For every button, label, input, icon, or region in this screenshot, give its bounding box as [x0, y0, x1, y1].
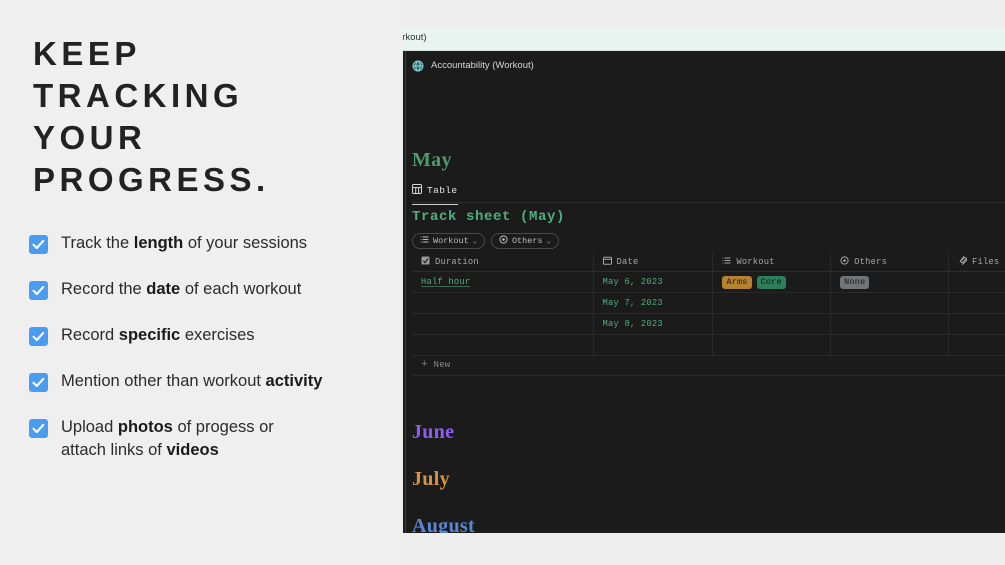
column-header-files[interactable]: Files [949, 253, 1005, 271]
chevron-down-icon: ⌄ [547, 237, 551, 246]
tag-none: None [840, 276, 869, 289]
cell-date[interactable]: May 7, 2023 [594, 293, 714, 313]
add-new-row-label: New [434, 360, 451, 370]
tab-table-label: Table [427, 185, 458, 196]
paperclip-icon [958, 256, 967, 268]
column-header-label: Others [854, 257, 887, 267]
breadcrumb-label[interactable]: Accountability (Workout) [431, 60, 534, 71]
table-icon [412, 181, 422, 199]
cell-files[interactable] [949, 314, 1005, 334]
table-row[interactable]: Half hourMay 6, 2023ArmsCoreNone [412, 272, 1005, 293]
page-title: KEEP TRACKING YOUR PROGRESS. [33, 33, 373, 201]
month-heading-june[interactable]: June [412, 421, 454, 444]
table-row[interactable]: May 8, 2023 [412, 314, 1005, 335]
cell-others[interactable] [831, 335, 949, 355]
cell-date-value: May 8, 2023 [603, 319, 663, 329]
checkbox-checked-icon[interactable] [29, 235, 48, 254]
checkbox-checked-icon[interactable] [29, 327, 48, 346]
database-title[interactable]: Track sheet (May) [412, 209, 565, 225]
app-body: Accountability (Workout) May Table Track… [405, 51, 1005, 533]
cell-workout[interactable] [713, 314, 831, 334]
cell-date[interactable]: May 8, 2023 [594, 314, 714, 334]
checklist-item: Track the length of your sessions [29, 232, 399, 255]
cell-others[interactable] [831, 293, 949, 313]
cell-workout[interactable]: ArmsCore [713, 272, 831, 292]
table-row[interactable]: May 7, 2023 [412, 293, 1005, 314]
checklist-item: Record specific exercises [29, 324, 399, 347]
tab-bar-divider [412, 202, 1005, 203]
filter-pill-others[interactable]: Others ⌄ [491, 233, 559, 249]
column-header-date[interactable]: Date [594, 253, 714, 271]
slide-left-panel: KEEP TRACKING YOUR PROGRESS. Track the l… [0, 0, 403, 565]
calendar-icon [603, 256, 612, 268]
notion-app-window: orkout) Accountability (Workout) May [403, 28, 1005, 533]
column-header-label: Workout [736, 257, 774, 267]
column-header-label: Duration [435, 257, 479, 267]
cell-workout[interactable] [713, 335, 831, 355]
cell-files[interactable] [949, 335, 1005, 355]
checklist-item: Upload photos of progess orattach links … [29, 416, 399, 462]
table-row[interactable] [412, 335, 1005, 356]
cell-date[interactable] [594, 335, 714, 355]
cell-files[interactable] [949, 272, 1005, 292]
cell-date-value: May 7, 2023 [603, 298, 663, 308]
plus-icon: + [421, 359, 428, 371]
checklist-item-label: Upload photos of progess orattach links … [61, 416, 274, 462]
circle-dot-icon [840, 256, 849, 268]
select-icon [421, 256, 430, 268]
cell-duration[interactable] [412, 314, 594, 334]
filter-pill-others-label: Others [512, 236, 543, 246]
track-sheet-table: DurationDateWorkoutOthersFilesHalf hourM… [412, 253, 1005, 356]
cell-date[interactable]: May 6, 2023 [594, 272, 714, 292]
checklist: Track the length of your sessionsRecord … [29, 232, 399, 485]
breadcrumb[interactable]: Accountability (Workout) [412, 57, 534, 73]
filter-pill-workout-label: Workout [433, 236, 469, 246]
cell-duration[interactable] [412, 293, 594, 313]
cell-files[interactable] [949, 293, 1005, 313]
checklist-item-label: Track the length of your sessions [61, 232, 307, 255]
list-icon [722, 256, 731, 268]
browser-tab-title[interactable]: orkout) [403, 32, 427, 43]
checklist-item-label: Record the date of each workout [61, 278, 301, 301]
tag-arms: Arms [722, 276, 751, 289]
slide-canvas: KEEP TRACKING YOUR PROGRESS. Track the l… [0, 0, 1005, 565]
cell-duration-value: Half hour [421, 277, 470, 287]
circle-dot-icon [499, 235, 508, 247]
checkbox-checked-icon[interactable] [29, 419, 48, 438]
table-header-row: DurationDateWorkoutOthersFiles [412, 253, 1005, 272]
checkbox-checked-icon[interactable] [29, 373, 48, 392]
month-heading-august[interactable]: August [412, 515, 475, 533]
filter-pill-workout[interactable]: Workout ⌄ [412, 233, 485, 249]
column-header-others[interactable]: Others [831, 253, 949, 271]
filter-pill-group: Workout ⌄ Others ⌄ [412, 233, 559, 249]
tag-core: Core [757, 276, 786, 289]
globe-icon [412, 59, 424, 71]
checklist-item-label: Mention other than workout activity [61, 370, 322, 393]
cell-duration[interactable]: Half hour [412, 272, 594, 292]
cell-workout[interactable] [713, 293, 831, 313]
chevron-down-icon: ⌄ [473, 237, 477, 246]
column-header-label: Files [972, 257, 999, 267]
browser-tab-strip[interactable]: orkout) [403, 28, 1005, 51]
list-icon [420, 235, 429, 247]
checkbox-checked-icon[interactable] [29, 281, 48, 300]
column-header-label: Date [617, 257, 639, 267]
checklist-item-label: Record specific exercises [61, 324, 255, 347]
cell-date-value: May 6, 2023 [603, 277, 663, 287]
cell-others[interactable]: None [831, 272, 949, 292]
checklist-item: Record the date of each workout [29, 278, 399, 301]
checklist-item: Mention other than workout activity [29, 370, 399, 393]
column-header-workout[interactable]: Workout [713, 253, 831, 271]
cell-others[interactable] [831, 314, 949, 334]
month-heading-july[interactable]: July [412, 468, 450, 491]
column-header-duration[interactable]: Duration [412, 253, 594, 271]
cell-duration[interactable] [412, 335, 594, 355]
month-heading-may[interactable]: May [412, 149, 452, 172]
add-new-row-button[interactable]: + New [412, 355, 1005, 376]
